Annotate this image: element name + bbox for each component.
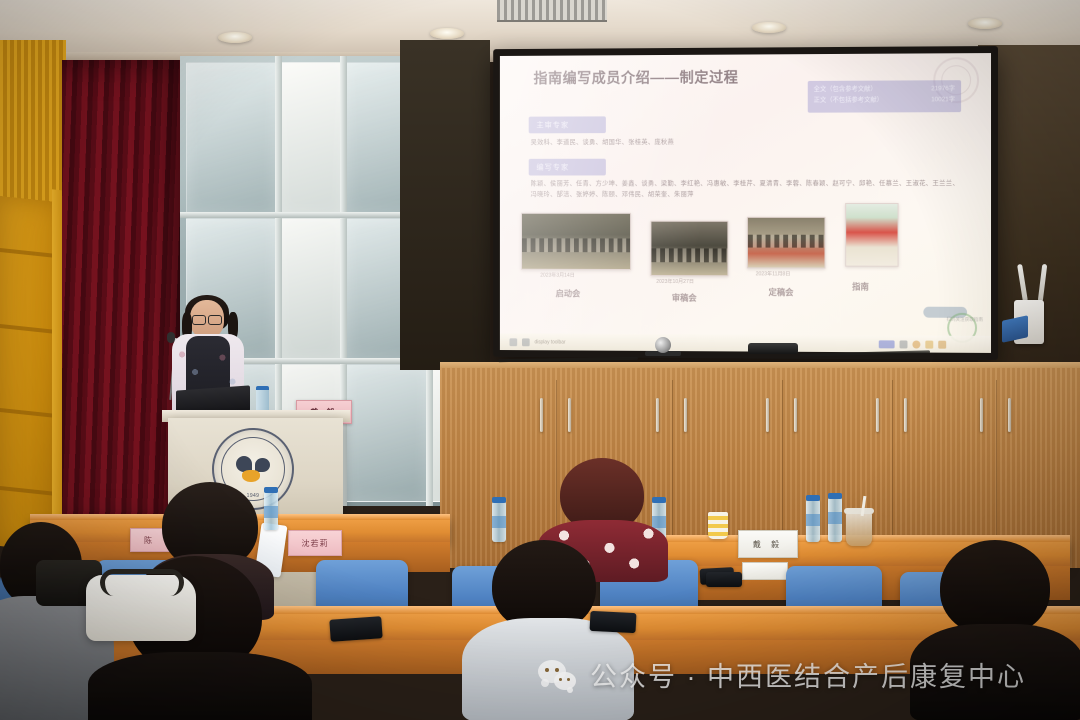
grid-icon[interactable] bbox=[522, 338, 530, 346]
slide-photo-caption: 审稿会 bbox=[672, 292, 697, 304]
slide-photo bbox=[650, 221, 728, 276]
downlight bbox=[430, 28, 464, 39]
cabinet-handle[interactable] bbox=[656, 398, 659, 432]
slide-section-label-authors: 编写专家 bbox=[529, 159, 606, 176]
name-card-text: 陈 bbox=[144, 535, 156, 546]
cabinet-handle[interactable] bbox=[904, 398, 907, 432]
slide-section-label-review: 主审专家 bbox=[529, 116, 606, 133]
wood-wall-panel bbox=[0, 196, 58, 552]
smartphone[interactable] bbox=[706, 572, 742, 587]
paper-sheet bbox=[742, 562, 788, 580]
slide-photo-caption: 定稿会 bbox=[768, 286, 793, 298]
downlight bbox=[218, 32, 252, 43]
wordcount-value: 21976字 bbox=[931, 83, 955, 94]
slide-section-names-review: 吴效科、李道民、谈勇、胡国华、张桂英、庞秋燕 bbox=[531, 137, 852, 148]
downlight bbox=[968, 18, 1002, 29]
slide-photo bbox=[521, 213, 631, 270]
bag-strap bbox=[100, 569, 184, 596]
watermark: 公众号 · 中西医结合产后康复中心 bbox=[538, 655, 1026, 694]
paper-cup bbox=[708, 512, 728, 539]
projection-screen: 指南编写成员介绍——制定过程 全文（包含参考文献） 21976字 正文（不包括参… bbox=[493, 46, 998, 360]
slide-photo bbox=[845, 203, 898, 267]
name-card-text: 沈若莉 bbox=[302, 538, 329, 549]
handbag bbox=[86, 575, 196, 641]
screen-surface: 指南编写成员介绍——制定过程 全文（包含参考文献） 21976字 正文（不包括参… bbox=[500, 53, 991, 353]
menu-icon[interactable] bbox=[509, 338, 517, 346]
ceiling-vent bbox=[497, 0, 607, 22]
slide-photo-date: 2023年11月8日 bbox=[756, 270, 791, 277]
slide-wordcount-box: 全文（包含参考文献） 21976字 正文（不包括参考文献） 10021字 bbox=[808, 80, 961, 113]
water-bottle bbox=[806, 500, 820, 542]
emblem-year: 1949 bbox=[247, 493, 260, 499]
save-icon[interactable] bbox=[925, 340, 933, 348]
slide-photo-date: 2023年3月14日 bbox=[540, 272, 574, 279]
smartphone[interactable] bbox=[329, 616, 382, 642]
slide-qr-note: 扫码关注获取指南 bbox=[946, 317, 983, 323]
record-icon[interactable] bbox=[912, 340, 920, 348]
wordcount-label: 全文（包含参考文献） bbox=[814, 84, 877, 95]
delete-icon[interactable] bbox=[938, 340, 946, 348]
dark-wall-section bbox=[400, 40, 490, 370]
cabinet-handle[interactable] bbox=[980, 398, 983, 432]
wechat-icon bbox=[538, 660, 576, 690]
smartphone[interactable] bbox=[590, 611, 637, 633]
cabinet-handle[interactable] bbox=[794, 398, 797, 432]
cabinet-handle[interactable] bbox=[568, 398, 571, 432]
watermark-text: 公众号 · 中西医结合产后康复中心 bbox=[590, 655, 1026, 694]
wordcount-value: 10021字 bbox=[931, 94, 955, 105]
photo-scene: 指南编写成员介绍——制定过程 全文（包含参考文献） 21976字 正文（不包括参… bbox=[0, 0, 1080, 720]
name-card: 戴 毅 bbox=[738, 530, 798, 558]
iced-drink-cup bbox=[846, 512, 872, 546]
slide-content: 指南编写成员介绍——制定过程 全文（包含参考文献） 21976字 正文（不包括参… bbox=[500, 53, 991, 353]
conference-camera-icon bbox=[655, 337, 671, 353]
page-indicator-icon[interactable] bbox=[879, 340, 895, 348]
slide-photo-date: 2023年10月27日 bbox=[656, 278, 694, 285]
name-card-text: 戴 毅 bbox=[753, 539, 783, 550]
slide-title: 指南编写成员介绍——制定过程 bbox=[534, 66, 739, 88]
slide-section-names-authors: 陈颖、侯丽芳、任青、方少坤、姜鑫、谈勇、梁勤、李红艳、冯惠敏、李桂芹、夏清青、李… bbox=[531, 179, 961, 200]
cabinet-handle[interactable] bbox=[876, 398, 879, 432]
screen-glare bbox=[500, 53, 834, 353]
conference-microphone bbox=[748, 343, 798, 354]
water-bottle bbox=[828, 498, 842, 542]
slide-photo bbox=[747, 217, 826, 269]
water-bottle bbox=[264, 492, 278, 530]
wordcount-label: 正文（不包括参考文献） bbox=[814, 95, 883, 106]
eyeglasses-icon bbox=[192, 315, 222, 323]
cabinet-handle[interactable] bbox=[766, 398, 769, 432]
wordcount-row: 全文（包含参考文献） 21976字 bbox=[814, 83, 955, 95]
cabinet-handle[interactable] bbox=[1008, 398, 1011, 432]
name-card: 沈若莉 bbox=[288, 530, 342, 556]
slide-photo-caption: 指南 bbox=[852, 281, 869, 293]
cabinet-handle[interactable] bbox=[684, 398, 687, 432]
downlight bbox=[752, 22, 786, 33]
toolbar-hint: display toolbar bbox=[534, 339, 565, 345]
pen-icon[interactable] bbox=[900, 340, 908, 348]
slide-photo-caption: 启动会 bbox=[556, 287, 581, 299]
cabinet-handle[interactable] bbox=[540, 398, 543, 432]
wordcount-row: 正文（不包括参考文献） 10021字 bbox=[814, 94, 955, 106]
water-bottle bbox=[492, 502, 506, 542]
